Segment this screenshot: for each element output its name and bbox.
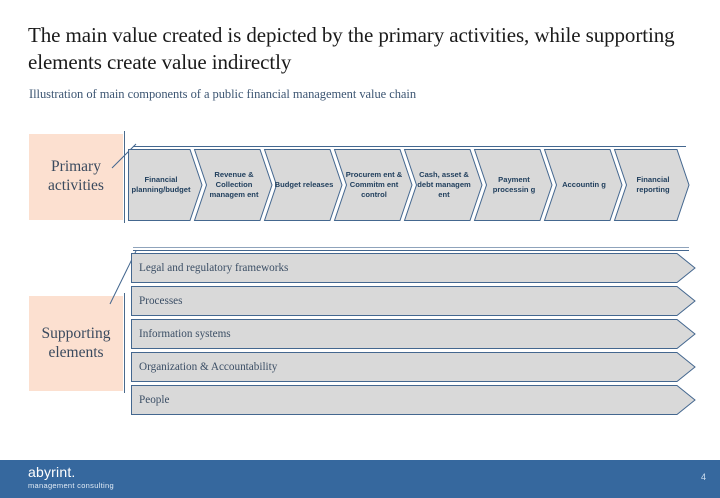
chevron-shape-7: [545, 150, 623, 221]
chevron-shape-2: [195, 150, 273, 221]
chevron-shape-1: [129, 150, 203, 221]
brand-tagline: management consulting: [28, 481, 114, 490]
chevron-shape-3: [265, 150, 343, 221]
brand-logo-text: abyrint.: [28, 464, 76, 480]
primary-chevrons-graphic: [128, 147, 690, 223]
category-box-supporting-elements: Supporting elements: [29, 296, 123, 391]
chevron-shape-5: [405, 150, 483, 221]
supporting-bar-shape-5: [131, 385, 696, 415]
category-box-primary-activities: Primary activities: [29, 134, 123, 220]
footer-bar: abyrint. management consulting 4: [0, 460, 720, 498]
supporting-elements-band: Legal and regulatory frameworks Processe…: [131, 247, 696, 417]
chevron-shape-6: [475, 150, 553, 221]
divider-line-supporting: [124, 293, 125, 393]
supporting-row-2: Processes: [131, 286, 696, 316]
supporting-row-3: Information systems: [131, 319, 696, 349]
chevron-shape-8: [615, 150, 690, 221]
category-label-primary: Primary activities: [29, 158, 123, 195]
page-number: 4: [701, 472, 706, 482]
supporting-row-5: People: [131, 385, 696, 415]
supporting-row-1: Legal and regulatory frameworks: [131, 253, 696, 283]
supporting-bar-shape-1: [131, 253, 696, 283]
category-label-supporting: Supporting elements: [29, 325, 123, 362]
supporting-bar-shape-3: [131, 319, 696, 349]
supporting-row-4: Organization & Accountability: [131, 352, 696, 382]
supporting-bar-shape-2: [131, 286, 696, 316]
page-title: The main value created is depicted by th…: [28, 22, 692, 76]
chevron-shape-4: [335, 150, 413, 221]
primary-activities-band: Financial planning/budget Revenue & Coll…: [128, 147, 690, 223]
page-subtitle: Illustration of main components of a pub…: [29, 87, 669, 102]
supporting-bar-shape-4: [131, 352, 696, 382]
